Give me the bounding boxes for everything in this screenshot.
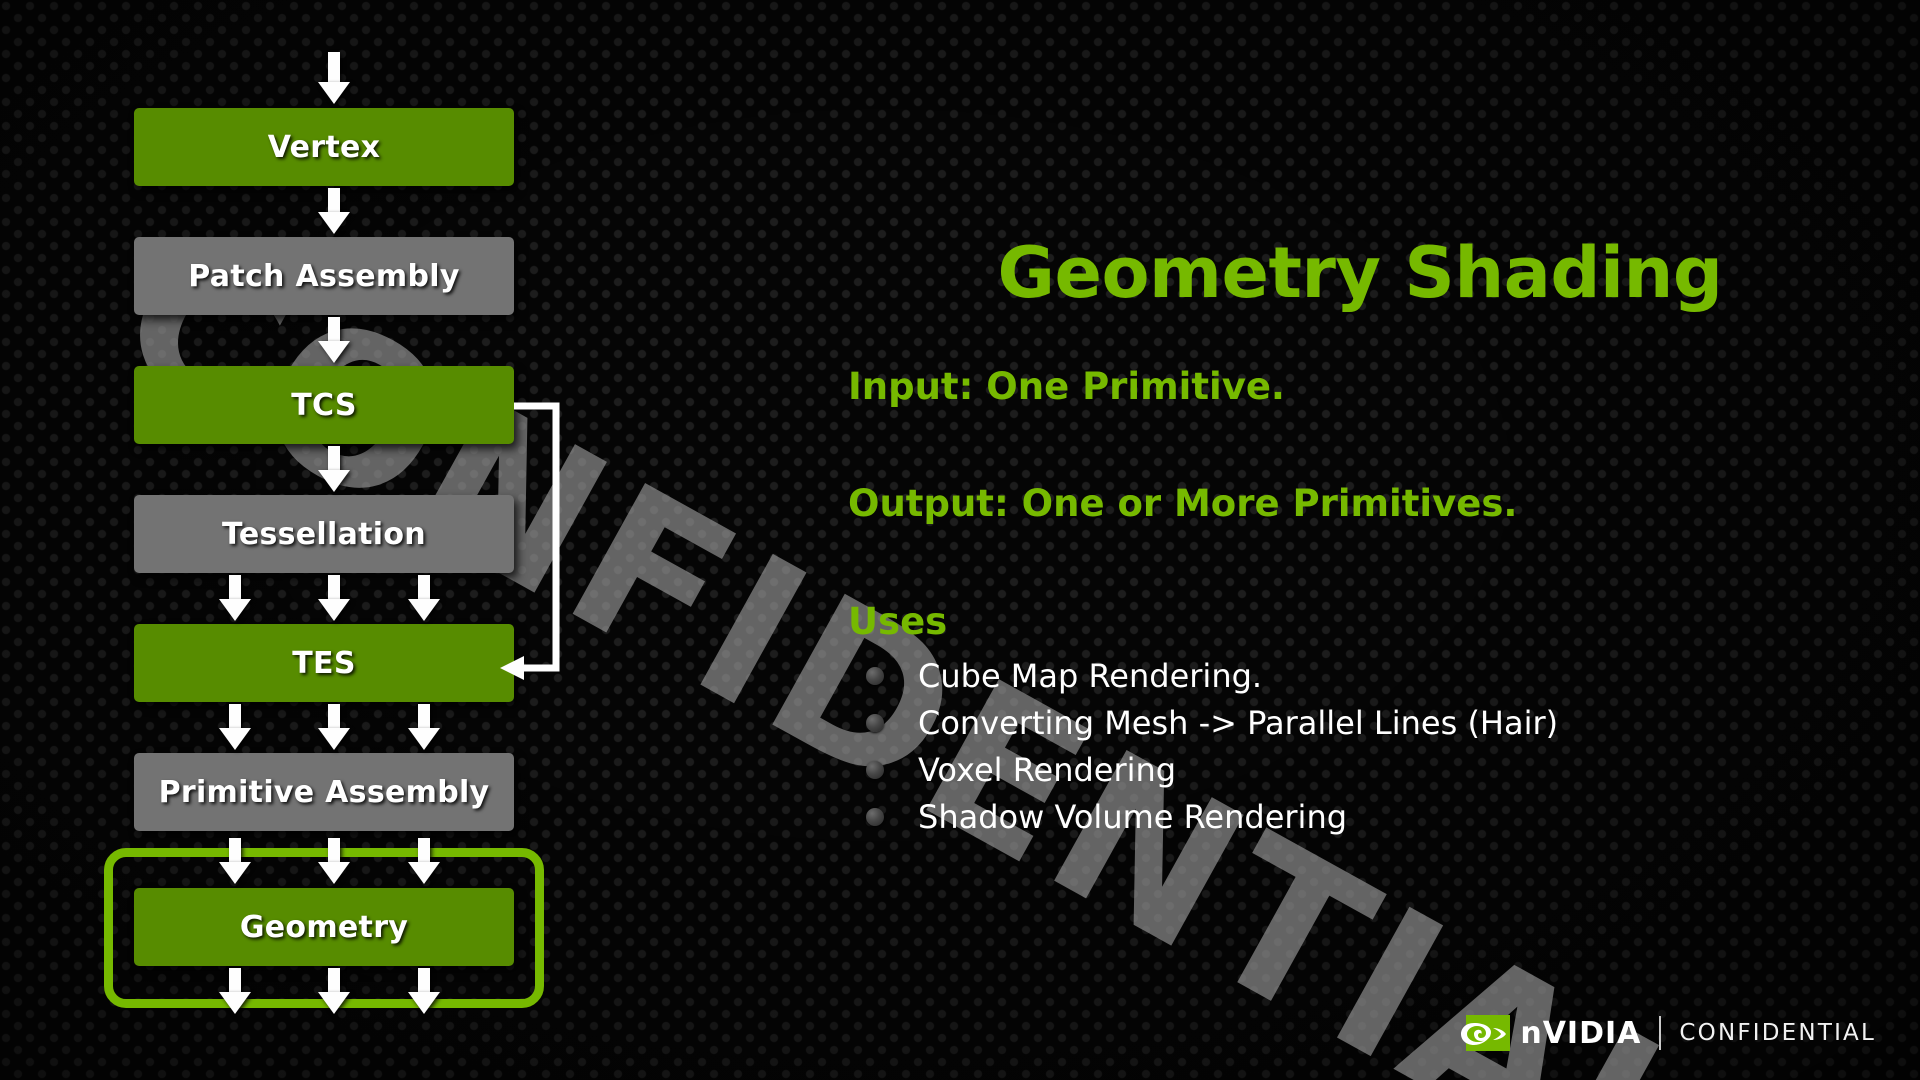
slide-content-column: Geometry Shading Input: One Primitive. O… bbox=[840, 0, 1920, 1080]
input-statement: Input: One Primitive. bbox=[848, 365, 1285, 408]
list-item-label: Converting Mesh -> Parallel Lines (Hair) bbox=[918, 704, 1558, 742]
nvidia-wordmark: nVIDIA bbox=[1520, 1016, 1641, 1051]
list-item-label: Cube Map Rendering. bbox=[918, 657, 1262, 695]
bullet-icon bbox=[866, 714, 884, 732]
uses-heading: Uses bbox=[848, 600, 947, 643]
pipeline-feedback-loop-tcs-tes bbox=[0, 0, 600, 1080]
uses-list: Cube Map Rendering. Converting Mesh -> P… bbox=[848, 652, 1858, 840]
list-item: Converting Mesh -> Parallel Lines (Hair) bbox=[848, 699, 1858, 746]
nvidia-logo: nVIDIA bbox=[1466, 1015, 1641, 1051]
slide-footer: nVIDIA CONFIDENTIAL bbox=[1466, 1010, 1876, 1056]
footer-divider bbox=[1659, 1016, 1661, 1050]
bullet-icon bbox=[866, 667, 884, 685]
list-item: Cube Map Rendering. bbox=[848, 652, 1858, 699]
nvidia-eye-icon bbox=[1466, 1015, 1510, 1051]
bullet-icon bbox=[866, 808, 884, 826]
slide-title: Geometry Shading bbox=[840, 232, 1880, 314]
list-item: Voxel Rendering bbox=[848, 746, 1858, 793]
graphics-pipeline-diagram: Vertex Patch Assembly TCS Tessellation T… bbox=[0, 0, 600, 1080]
output-statement: Output: One or More Primitives. bbox=[848, 482, 1517, 525]
footer-confidential-label: CONFIDENTIAL bbox=[1679, 1020, 1876, 1046]
list-item-label: Voxel Rendering bbox=[918, 751, 1176, 789]
list-item-label: Shadow Volume Rendering bbox=[918, 798, 1347, 836]
bullet-icon bbox=[866, 761, 884, 779]
list-item: Shadow Volume Rendering bbox=[848, 793, 1858, 840]
